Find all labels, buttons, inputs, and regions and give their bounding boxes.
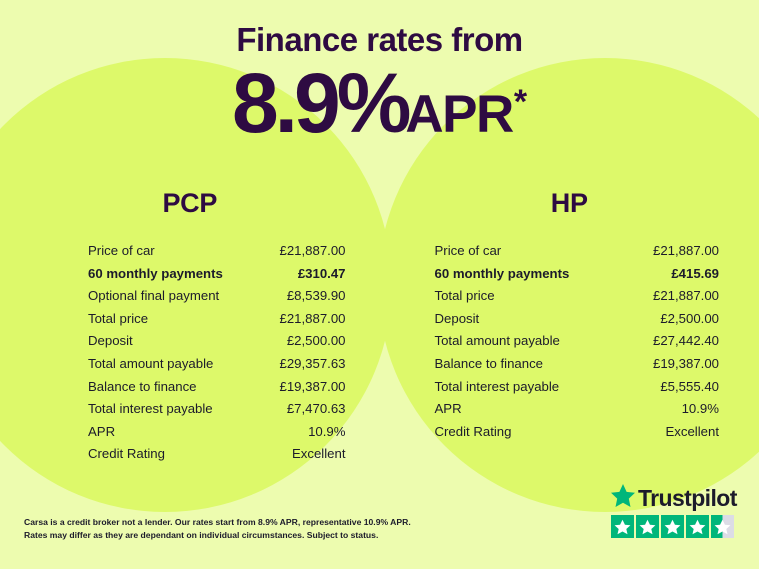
- row-label: Optional final payment: [88, 288, 219, 303]
- table-row: Credit Rating Excellent: [435, 424, 720, 447]
- trustpilot-stars: [611, 515, 737, 538]
- footnote-marker: *: [514, 85, 527, 119]
- table-row: Total amount payable £29,357.63: [88, 356, 346, 379]
- row-value: £21,887.00: [653, 288, 719, 303]
- table-row: 60 monthly payments £310.47: [88, 266, 346, 289]
- row-value: £27,442.40: [653, 333, 719, 348]
- row-label: Total interest payable: [435, 379, 560, 394]
- table-row: Price of car £21,887.00: [435, 243, 720, 266]
- row-label: Price of car: [88, 243, 155, 258]
- row-label: APR: [88, 424, 115, 439]
- row-value: £415.69: [671, 266, 719, 281]
- star-icon-filled: [636, 515, 659, 538]
- headline-rate: 8.9% APR *: [0, 61, 759, 145]
- legal-disclaimer: Carsa is a credit broker not a lender. O…: [24, 516, 444, 543]
- row-value: £19,387.00: [653, 356, 719, 371]
- trustpilot-wordmark-row: Trustpilot: [611, 485, 737, 511]
- table-row: Optional final payment £8,539.90: [88, 288, 346, 311]
- table-row: APR 10.9%: [88, 424, 346, 447]
- row-value: Excellent: [292, 446, 346, 461]
- column-title-hp: HP: [380, 190, 759, 217]
- table-row: Total amount payable £27,442.40: [435, 333, 720, 356]
- disclaimer-line-1: Carsa is a credit broker not a lender. O…: [24, 516, 444, 529]
- row-value: £21,887.00: [279, 243, 345, 258]
- row-label: Credit Rating: [435, 424, 512, 439]
- table-row: Total price £21,887.00: [435, 288, 720, 311]
- table-row: Balance to finance £19,387.00: [435, 356, 720, 379]
- row-value: £19,387.00: [279, 379, 345, 394]
- row-value: £8,539.90: [287, 288, 346, 303]
- row-value: £310.47: [298, 266, 346, 281]
- table-row: Balance to finance £19,387.00: [88, 379, 346, 402]
- table-row: Deposit £2,500.00: [435, 311, 720, 334]
- row-label: Total amount payable: [88, 356, 213, 371]
- disclaimer-line-2: Rates may differ as they are dependant o…: [24, 529, 444, 542]
- finance-column-hp: HP Price of car £21,887.00 60 monthly pa…: [380, 190, 759, 469]
- row-label: Balance to finance: [88, 379, 197, 394]
- table-row: Total interest payable £5,555.40: [435, 379, 720, 402]
- page-title: Finance rates from: [0, 23, 759, 56]
- row-label: Deposit: [435, 311, 480, 326]
- row-value: 10.9%: [308, 424, 345, 439]
- rate-unit: APR: [405, 88, 512, 141]
- star-icon-half: [711, 515, 734, 538]
- row-value: £5,555.40: [660, 379, 719, 394]
- row-label: Total interest payable: [88, 401, 213, 416]
- table-row: Total interest payable £7,470.63: [88, 401, 346, 424]
- table-row: APR 10.9%: [435, 401, 720, 424]
- row-value: £21,887.00: [653, 243, 719, 258]
- table-rows-hp: Price of car £21,887.00 60 monthly payme…: [380, 243, 759, 446]
- row-label: Total price: [88, 311, 148, 326]
- table-row: 60 monthly payments £415.69: [435, 266, 720, 289]
- row-label: Balance to finance: [435, 356, 544, 371]
- row-label: APR: [435, 401, 462, 416]
- row-value: £7,470.63: [287, 401, 346, 416]
- trustpilot-rating[interactable]: Trustpilot: [611, 485, 737, 538]
- row-value: £21,887.00: [279, 311, 345, 326]
- star-icon-filled: [686, 515, 709, 538]
- row-value: £29,357.63: [279, 356, 345, 371]
- row-value: £2,500.00: [660, 311, 719, 326]
- trustpilot-wordmark: Trustpilot: [638, 487, 737, 510]
- row-value: Excellent: [665, 424, 719, 439]
- table-rows-pcp: Price of car £21,887.00 60 monthly payme…: [0, 243, 380, 469]
- star-icon-filled: [661, 515, 684, 538]
- table-row: Deposit £2,500.00: [88, 333, 346, 356]
- row-label: Deposit: [88, 333, 133, 348]
- table-row: Price of car £21,887.00: [88, 243, 346, 266]
- row-value: £2,500.00: [287, 333, 346, 348]
- row-label: Total amount payable: [435, 333, 560, 348]
- column-title-pcp: PCP: [0, 190, 380, 217]
- finance-comparison-tables: PCP Price of car £21,887.00 60 monthly p…: [0, 190, 759, 469]
- row-label: Total price: [435, 288, 495, 303]
- row-label: Credit Rating: [88, 446, 165, 461]
- finance-column-pcp: PCP Price of car £21,887.00 60 monthly p…: [0, 190, 380, 469]
- rate-value: 8.9%: [232, 61, 407, 145]
- row-label: 60 monthly payments: [435, 266, 570, 281]
- row-value: 10.9%: [682, 401, 719, 416]
- table-row: Credit Rating Excellent: [88, 446, 346, 469]
- row-label: Price of car: [435, 243, 502, 258]
- row-label: 60 monthly payments: [88, 266, 223, 281]
- table-row: Total price £21,887.00: [88, 311, 346, 334]
- trustpilot-star-icon: [611, 484, 635, 512]
- header: Finance rates from 8.9% APR *: [0, 0, 759, 145]
- star-icon-filled: [611, 515, 634, 538]
